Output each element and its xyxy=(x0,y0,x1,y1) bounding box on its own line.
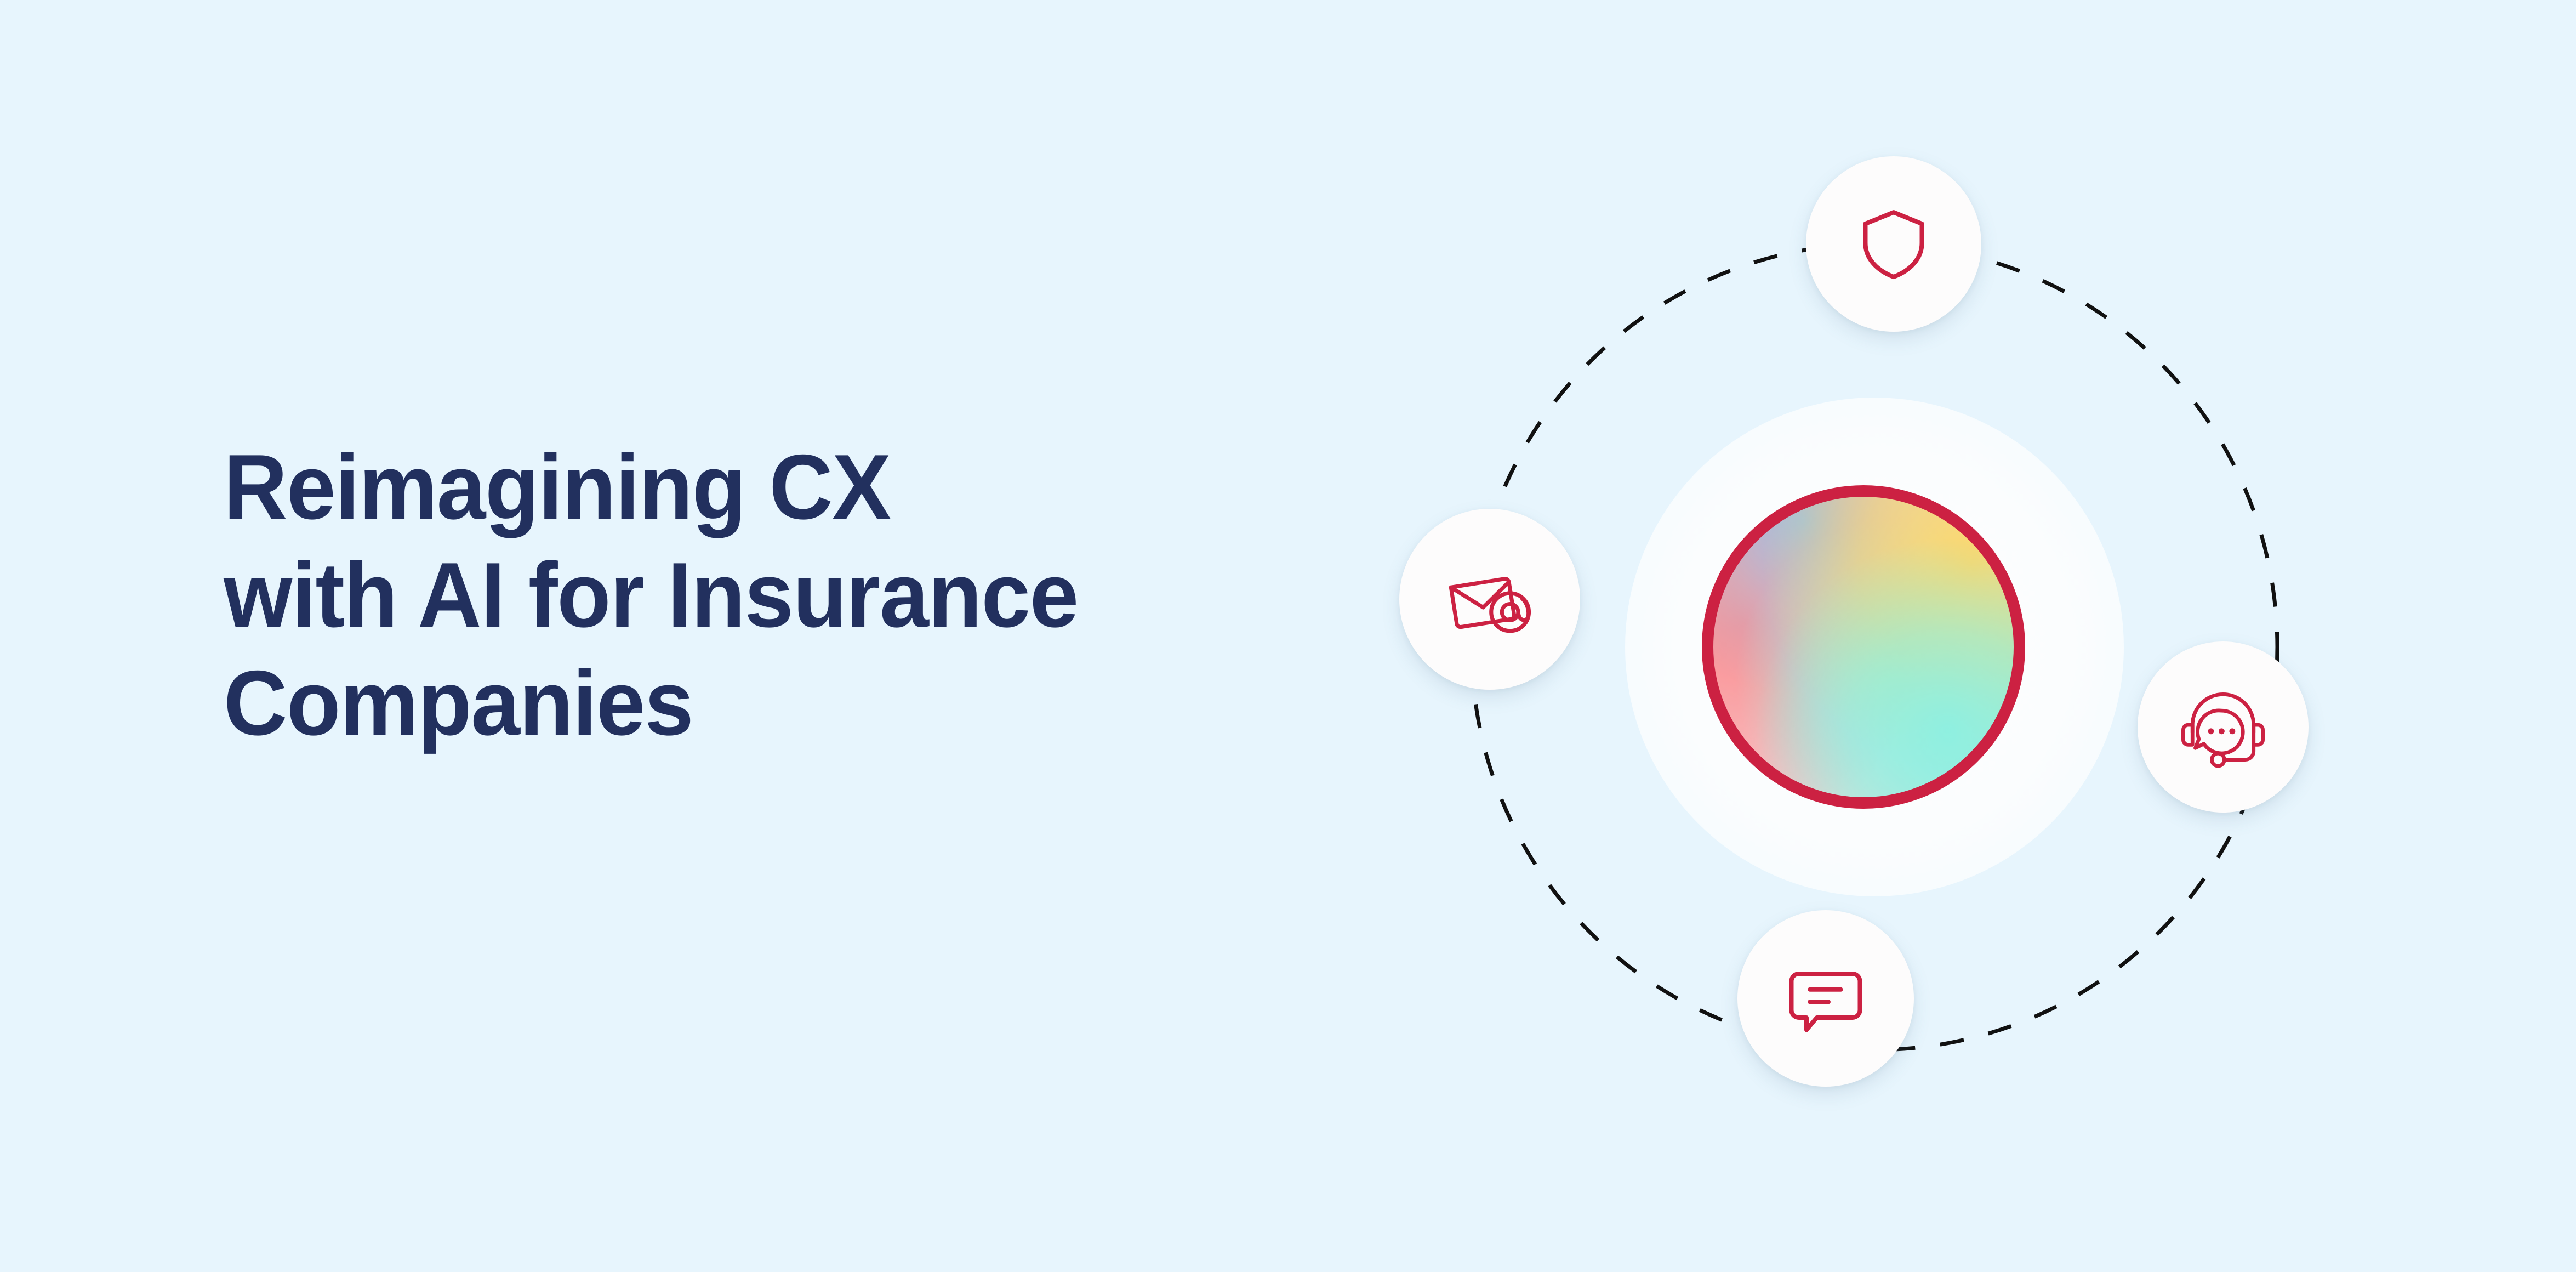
shield-icon xyxy=(1853,203,1935,285)
chat-bubble-icon xyxy=(1782,955,1870,1042)
badge-email[interactable] xyxy=(1399,509,1580,690)
badge-security[interactable] xyxy=(1806,156,1981,332)
badge-chat[interactable] xyxy=(1737,910,1914,1087)
email-at-icon xyxy=(1441,551,1538,648)
ai-core-orb xyxy=(1702,485,2025,809)
badge-support[interactable] xyxy=(2138,641,2309,813)
headline-block: Reimagining CX with AI for Insurance Com… xyxy=(224,433,1265,757)
ai-cx-orbit-illustration xyxy=(1359,132,2433,1151)
page-title: Reimagining CX with AI for Insurance Com… xyxy=(224,433,1223,757)
headset-chat-icon xyxy=(2178,682,2269,773)
hero-banner: Reimagining CX with AI for Insurance Com… xyxy=(0,0,2576,1272)
